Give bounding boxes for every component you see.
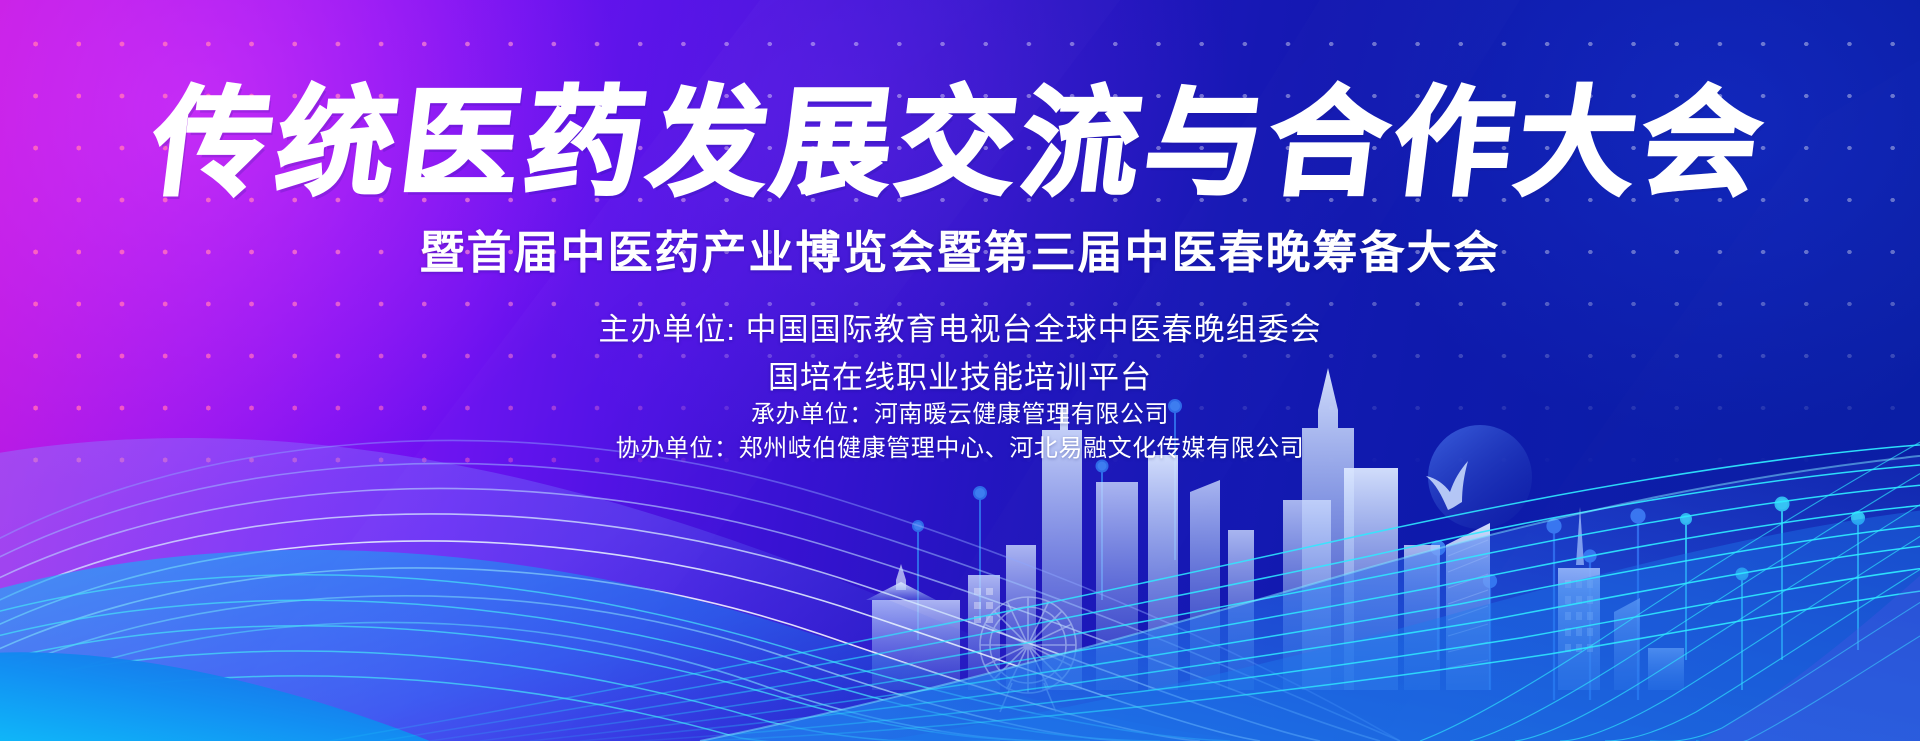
banner-text-content: 传统医药发展交流与合作大会 暨首届中医药产业博览会暨第三届中医春晚筹备大会 主办… <box>0 0 1920 741</box>
host-organizer-line-1: 主办单位: 中国国际教育电视台全球中医春晚组委会 <box>0 312 1920 348</box>
co-organizer-line: 协办单位：郑州岐伯健康管理中心、河北易融文化传媒有限公司 <box>0 434 1920 464</box>
conference-banner: 传统医药发展交流与合作大会 暨首届中医药产业博览会暨第三届中医春晚筹备大会 主办… <box>0 0 1920 741</box>
host-organizer-line-2: 国培在线职业技能培训平台 <box>0 360 1920 396</box>
undertaker-organizer-line: 承办单位：河南暖云健康管理有限公司 <box>0 400 1920 430</box>
page-subtitle: 暨首届中医药产业博览会暨第三届中医春晚筹备大会 <box>0 228 1920 278</box>
page-title: 传统医药发展交流与合作大会 <box>0 83 1920 203</box>
